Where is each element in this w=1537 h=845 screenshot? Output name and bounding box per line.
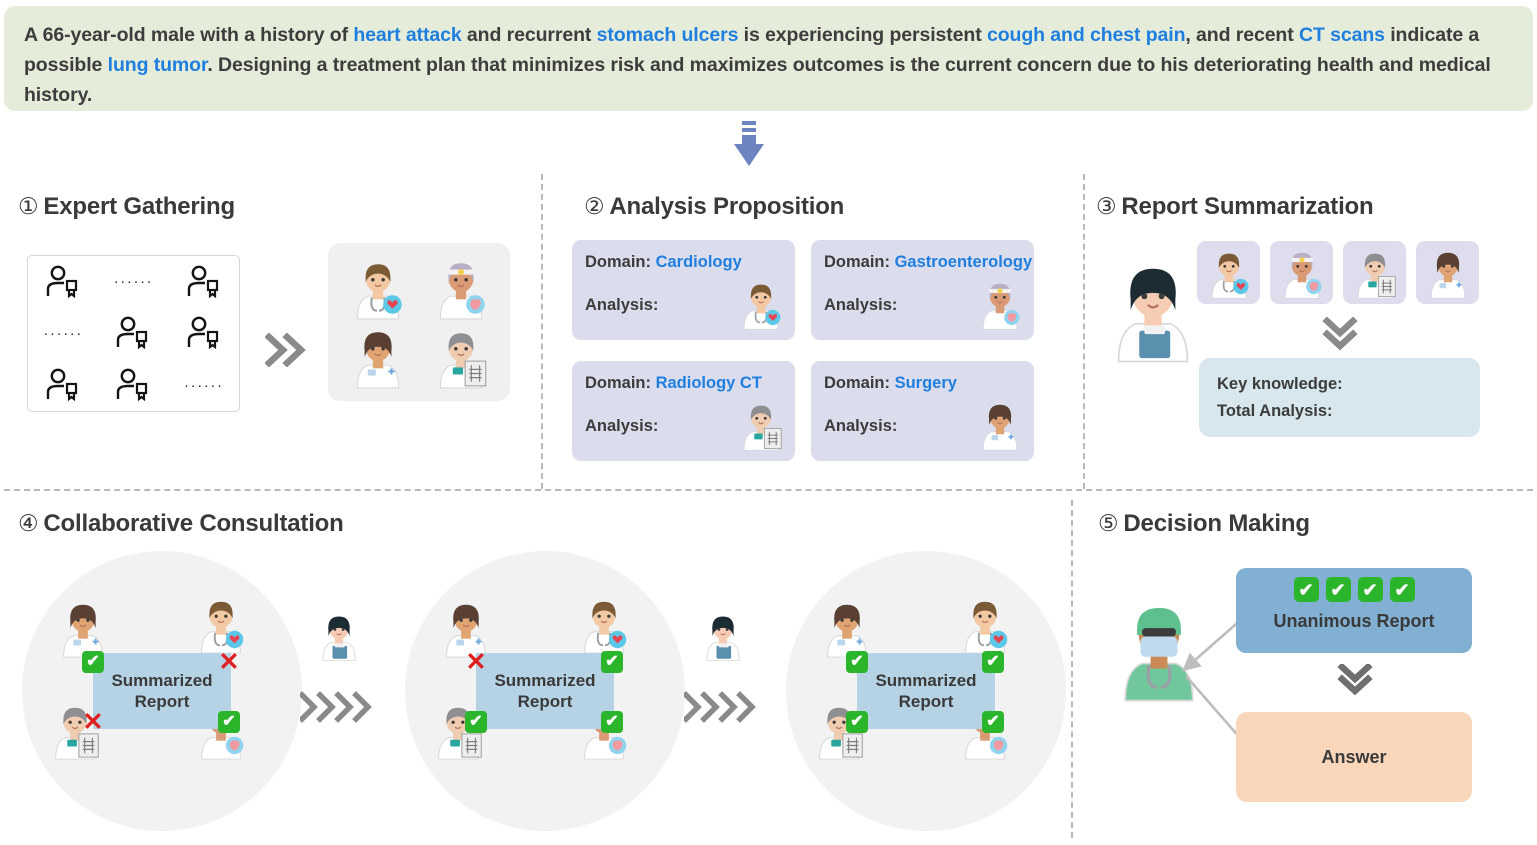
section-number-3: ③: [1096, 193, 1116, 219]
reject-cross-icon-bl: ✕: [82, 711, 104, 733]
domain-value: Gastroenterology: [895, 253, 1033, 271]
reject-cross-icon-tr: ✕: [218, 651, 240, 673]
approve-check-icon-bl: ✔: [846, 711, 868, 733]
card-avatar-cardiologist: [734, 277, 788, 336]
domain-line-3: Domain: Surgery: [824, 374, 1022, 393]
ellipsis-text: ······: [184, 378, 224, 393]
case-highlight-term: cough and chest pain: [987, 24, 1185, 46]
domain-line-2: Domain: Radiology CT: [585, 374, 783, 393]
domain-label: Domain:: [585, 253, 656, 271]
pool-person-icon: [169, 308, 239, 360]
team-avatar-radiologist: [419, 322, 502, 391]
key-knowledge-box: Key knowledge: Total Analysis:: [1199, 358, 1480, 437]
consultation-round-3: SummarizedReport✔✔✔✔: [786, 551, 1066, 831]
moderator-avatar-1: [313, 610, 365, 667]
case-highlight-term: stomach ulcers: [597, 24, 739, 46]
summarized-report-box: SummarizedReport: [857, 653, 995, 729]
domain-label: Domain:: [824, 374, 895, 392]
chevron-down-icon-decision: [1337, 664, 1373, 696]
report-line-1: Summarized: [111, 670, 212, 691]
case-plain-text: is experiencing persistent: [738, 24, 987, 46]
team-avatar-gastroenterologist: [419, 253, 502, 322]
divider-horizontal: [4, 489, 1533, 491]
section-title-report-summarization: ③Report Summarization: [1096, 193, 1373, 221]
answer-label: Answer: [1321, 747, 1386, 768]
divider-vertical-2: [1083, 174, 1085, 489]
report-line-2: Report: [135, 691, 190, 712]
round-avatar-cardiologist: [954, 593, 1016, 660]
card-avatar-surgeon: [973, 398, 1027, 457]
expert-pool-box: ··················: [27, 255, 240, 412]
pool-ellipsis: ······: [98, 256, 168, 308]
avatar-chip-radiologist: [1343, 241, 1406, 304]
moderator-avatar-2: [697, 610, 749, 667]
consultation-round-2: SummarizedReport✕✔✔✔: [405, 551, 685, 831]
report-line-1: Summarized: [875, 670, 976, 691]
case-highlight-term: heart attack: [353, 24, 461, 46]
pool-ellipsis: ······: [28, 308, 98, 360]
section-title-expert-gathering: ①Expert Gathering: [18, 193, 235, 221]
analysis-card-2: Domain: Radiology CTAnalysis:: [572, 361, 795, 461]
section-label-2: Analysis Proposition: [609, 193, 844, 220]
section-label-5: Decision Making: [1123, 510, 1309, 537]
report-line-2: Report: [899, 691, 954, 712]
case-highlight-term: lung tumor: [108, 54, 208, 76]
divider-vertical-1: [541, 174, 543, 489]
case-plain-text: , and recent: [1185, 24, 1299, 46]
ellipsis-text: ······: [114, 274, 154, 289]
section-number-1: ①: [18, 193, 38, 219]
analysis-card-0: Domain: CardiologyAnalysis:: [572, 240, 795, 340]
section-number-4: ④: [18, 510, 38, 536]
section-label-3: Report Summarization: [1121, 193, 1373, 220]
total-analysis-label: Total Analysis:: [1217, 398, 1480, 425]
domain-line-1: Domain: Gastroenterology: [824, 253, 1022, 272]
selected-expert-team-tile: [328, 243, 510, 401]
domain-label: Domain:: [585, 374, 656, 392]
case-description-text: A 66-year-old male with a history of hea…: [24, 20, 1509, 110]
analysis-card-1: Domain: GastroenterologyAnalysis:: [811, 240, 1034, 340]
section-number-5: ⑤: [1098, 510, 1118, 536]
figure-root: A 66-year-old male with a history of hea…: [0, 0, 1537, 845]
pool-person-icon: [28, 256, 98, 308]
case-plain-text: A 66-year-old male with a history of: [24, 24, 353, 46]
section-title-analysis-proposition: ②Analysis Proposition: [584, 193, 844, 221]
approve-check-icon-tl: ✔: [846, 651, 868, 673]
ellipsis-text: ······: [43, 326, 83, 341]
divider-vertical-3: [1071, 500, 1073, 838]
domain-value: Radiology CT: [656, 374, 762, 392]
card-avatar-gastroenterologist: [973, 277, 1027, 336]
answer-box: Answer: [1236, 712, 1472, 802]
pool-person-icon: [98, 359, 168, 411]
report-line-1: Summarized: [494, 670, 595, 691]
pool-person-icon: [98, 308, 168, 360]
approve-check-icon-tr: ✔: [601, 651, 623, 673]
unanimous-check-row: ✔✔✔✔: [1294, 577, 1415, 602]
summarizer-avatar: [1098, 255, 1208, 370]
section-number-2: ②: [584, 193, 604, 219]
unanimous-check-icon-2: ✔: [1358, 577, 1383, 602]
unanimous-check-icon-1: ✔: [1326, 577, 1351, 602]
section-label-4: Collaborative Consultation: [43, 510, 343, 537]
case-highlight-term: CT scans: [1299, 24, 1385, 46]
approve-check-icon-br: ✔: [218, 711, 240, 733]
double-chevron-right-icon: [265, 333, 307, 367]
avatar-chip-cardiologist: [1197, 241, 1260, 304]
domain-label: Domain:: [824, 253, 895, 271]
unanimous-check-icon-0: ✔: [1294, 577, 1319, 602]
domain-value: Cardiology: [656, 253, 742, 271]
chevron-down-icon-summarization: [1322, 317, 1358, 351]
flow-down-arrow-icon: [731, 121, 767, 169]
avatar-chip-surgeon: [1416, 241, 1479, 304]
quadruple-chevron-right-icon-2: [684, 690, 758, 724]
pool-person-icon: [169, 256, 239, 308]
pool-person-icon: [28, 359, 98, 411]
domain-value: Surgery: [895, 374, 957, 392]
team-avatar-surgeon: [336, 322, 419, 391]
consultation-round-1: SummarizedReport✔✕✕✔: [22, 551, 302, 831]
card-avatar-radiologist: [734, 398, 788, 457]
case-description-banner: A 66-year-old male with a history of hea…: [4, 6, 1533, 111]
expert-avatar-strip: [1197, 241, 1479, 304]
approve-check-icon-tl: ✔: [82, 651, 104, 673]
approve-check-icon-br: ✔: [982, 711, 1004, 733]
approve-check-icon-br: ✔: [601, 711, 623, 733]
round-avatar-cardiologist: [573, 593, 635, 660]
case-plain-text: and recurrent: [462, 24, 597, 46]
section-title-decision-making: ⑤Decision Making: [1098, 510, 1310, 538]
pool-ellipsis: ······: [169, 359, 239, 411]
analysis-card-3: Domain: SurgeryAnalysis:: [811, 361, 1034, 461]
team-avatar-cardiologist: [336, 253, 419, 322]
unanimous-check-icon-3: ✔: [1390, 577, 1415, 602]
report-line-2: Report: [518, 691, 573, 712]
summarized-report-box: SummarizedReport: [93, 653, 231, 729]
reject-cross-icon-tl: ✕: [465, 651, 487, 673]
section-label-1: Expert Gathering: [43, 193, 235, 220]
expert-pool-grid: ··················: [28, 256, 239, 411]
quadruple-chevron-right-icon-1: [300, 690, 374, 724]
section-title-collaborative-consultation: ④Collaborative Consultation: [18, 510, 344, 538]
avatar-chip-gastroenterologist: [1270, 241, 1333, 304]
key-knowledge-label: Key knowledge:: [1217, 371, 1480, 398]
unanimous-report-label: Unanimous Report: [1273, 611, 1434, 632]
unanimous-report-box: ✔✔✔✔ Unanimous Report: [1236, 568, 1472, 653]
domain-line-0: Domain: Cardiology: [585, 253, 783, 272]
case-plain-text: . Designing a treatment plan that minimi…: [24, 54, 1491, 106]
approve-check-icon-tr: ✔: [982, 651, 1004, 673]
summarized-report-box: SummarizedReport: [476, 653, 614, 729]
approve-check-icon-bl: ✔: [465, 711, 487, 733]
